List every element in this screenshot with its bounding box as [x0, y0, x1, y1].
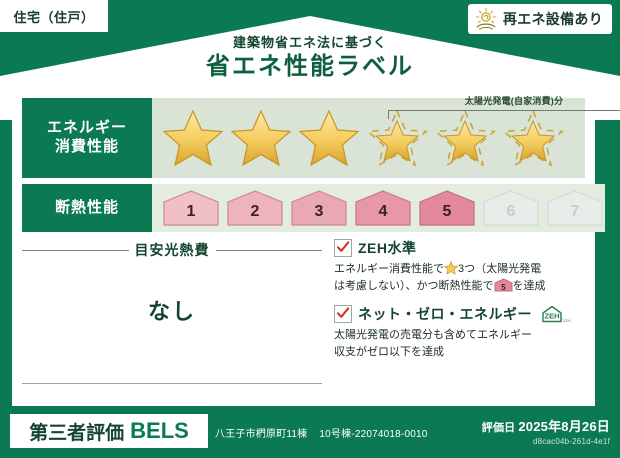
- criterion-desc-line1: 太陽光発電の売電分も含めてエネルギー: [334, 329, 532, 341]
- insulation-performance-label: 断熱性能: [22, 184, 152, 232]
- inline-insulation-badge-icon: 5: [494, 278, 513, 292]
- criterion-desc-post: を達成: [513, 280, 546, 292]
- evaluation-date-value: 2025年8月26日: [518, 419, 610, 434]
- property-address: 八王子市椚原町11棟10号棟-22074018-0010: [215, 425, 428, 440]
- estimated-utility-cost-header: 目安光熱費: [22, 240, 322, 260]
- evaluation-date-block: 評価日2025年8月26日 d8cac04b-261d-4e1f: [482, 416, 610, 446]
- criterion-net-zero-energy: ネット・ゼロ・エネルギー ZEH「ZEH」 太陽光発電の売電分も含めてエネルギー…: [334, 304, 586, 360]
- energy-performance-label: エネルギー 消費性能: [22, 98, 152, 178]
- energy-performance-label-card: 住宅（住戸） 再エネ設備あり 建築物省エネ法に基づく 省エネ性能ラベル: [0, 0, 620, 458]
- criterion-desc-line2: 収支がゼロ以下を達成: [334, 346, 444, 358]
- label-main-title: 省エネ性能ラベル: [0, 52, 620, 82]
- house-type-tag: 住宅（住戸）: [0, 0, 108, 32]
- svg-text:5: 5: [501, 283, 506, 292]
- renewable-badge-label: 再エネ設備あり: [503, 9, 603, 29]
- insulation-level-number: 5: [417, 189, 477, 227]
- estimated-utility-cost-block: 目安光熱費 なし: [22, 240, 322, 392]
- insulation-level-5: 5: [417, 189, 477, 227]
- criteria-list: ZEH水準 エネルギー消費性能で3つ（太陽光発電は考慮しない）、かつ断熱性能で5…: [334, 238, 586, 370]
- insulation-level-scale: 1 2 3 4 5: [152, 189, 605, 227]
- evaluation-date: 評価日2025年8月26日: [482, 416, 610, 435]
- bels-certification-plate: 第三者評価 BELS: [10, 414, 208, 448]
- criterion-header: ネット・ゼロ・エネルギー ZEH「ZEH」: [334, 304, 586, 324]
- criterion-description: 太陽光発電の売電分も含めてエネルギー収支がゼロ以下を達成: [334, 327, 586, 360]
- insulation-level-4: 4: [353, 189, 413, 227]
- criterion-desc-pre: エネルギー消費性能で: [334, 263, 444, 275]
- insulation-performance-row: 断熱性能 1 2 3: [22, 184, 585, 232]
- solar-share-bracket: [388, 110, 620, 119]
- divider-left: [22, 250, 129, 251]
- energy-label-line2: 消費性能: [55, 138, 119, 157]
- zeh-mark-icon: ZEH「ZEH」: [538, 304, 572, 324]
- label-subtitle: 建築物省エネ法に基づく: [0, 36, 620, 50]
- svg-text:「ZEH」: 「ZEH」: [559, 317, 572, 323]
- insulation-level-1: 1: [161, 189, 221, 227]
- estimated-utility-cost-title: 目安光熱費: [135, 240, 210, 260]
- criterion-header: ZEH水準: [334, 238, 586, 258]
- checkbox-checked-icon: [334, 305, 352, 323]
- third-party-eval-label: 第三者評価: [29, 418, 124, 445]
- address-text: 八王子市椚原町11棟: [215, 429, 307, 440]
- insulation-level-number: 7: [545, 189, 605, 227]
- insulation-label-text: 断熱性能: [55, 199, 119, 218]
- sun-renewable-icon: [474, 7, 498, 31]
- criterion-desc-mid: は考慮しない）、かつ断熱性能で: [334, 280, 494, 292]
- star-icon: [297, 107, 361, 169]
- insulation-level-2: 2: [225, 189, 285, 227]
- house-type-label: 住宅（住戸）: [13, 7, 94, 26]
- star-icon: [229, 107, 293, 169]
- criterion-title: ZEH水準: [358, 238, 417, 258]
- inline-star-icon: [444, 261, 458, 275]
- insulation-level-number: 6: [481, 189, 541, 227]
- solar-share-annotation: 太陽光発電(自家消費)分: [388, 97, 620, 107]
- star-icon: [161, 107, 225, 169]
- criterion-title: ネット・ゼロ・エネルギー: [358, 304, 532, 324]
- energy-stars-area: 太陽光発電(自家消費)分: [152, 98, 585, 178]
- insulation-level-7: 7: [545, 189, 605, 227]
- divider-right: [216, 250, 323, 251]
- label-title: 建築物省エネ法に基づく 省エネ性能ラベル: [0, 36, 620, 82]
- svg-text:ZEH: ZEH: [545, 312, 560, 321]
- evaluation-date-label: 評価日: [482, 422, 516, 434]
- lot-number-text: 10号棟-22074018-0010: [319, 429, 427, 440]
- criterion-zeh-standard: ZEH水準 エネルギー消費性能で3つ（太陽光発電は考慮しない）、かつ断熱性能で5…: [334, 238, 586, 294]
- solar-share-label: 太陽光発電(自家消費)分: [388, 97, 620, 107]
- label-main-panel: エネルギー 消費性能 太陽光発電(自家消費)分: [12, 88, 595, 406]
- insulation-level-3: 3: [289, 189, 349, 227]
- renewable-energy-badge: 再エネ設備あり: [468, 4, 612, 34]
- insulation-level-number: 3: [289, 189, 349, 227]
- insulation-level-number: 4: [353, 189, 413, 227]
- divider-bottom: [22, 383, 322, 384]
- bels-logo-text: BELS: [130, 418, 189, 444]
- criterion-desc-stars: 3つ（太陽光発電: [458, 263, 541, 275]
- footer-bar: 第三者評価 BELS 八王子市椚原町11棟10号棟-22074018-0010 …: [0, 408, 620, 458]
- criterion-description: エネルギー消費性能で3つ（太陽光発電は考慮しない）、かつ断熱性能で5を達成: [334, 261, 586, 294]
- insulation-level-number: 1: [161, 189, 221, 227]
- energy-label-line1: エネルギー: [47, 119, 127, 138]
- estimated-utility-cost-value: なし: [22, 294, 322, 326]
- insulation-levels-area: 1 2 3 4 5: [152, 184, 605, 232]
- document-hash: d8cac04b-261d-4e1f: [482, 437, 610, 446]
- insulation-level-number: 2: [225, 189, 285, 227]
- insulation-level-6: 6: [481, 189, 541, 227]
- energy-performance-row: エネルギー 消費性能 太陽光発電(自家消費)分: [22, 98, 585, 178]
- checkbox-checked-icon: [334, 239, 352, 257]
